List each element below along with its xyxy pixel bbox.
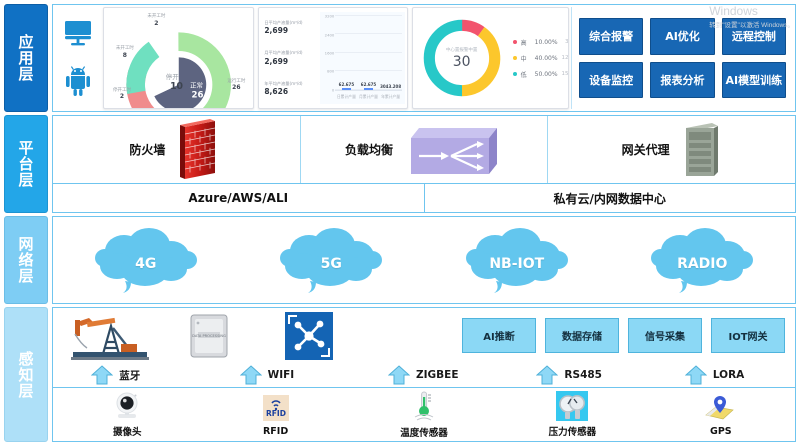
- kpi-value: 2,699: [264, 26, 318, 35]
- thermometer-icon: [409, 390, 439, 422]
- up-arrow-icon: [91, 365, 113, 385]
- donut1-seg-label: 正常: [190, 81, 203, 90]
- equipment-zigbee-node[interactable]: [259, 312, 359, 360]
- app-button-ai-optimization[interactable]: AI优化: [650, 18, 714, 55]
- chart-card-production-bar[interactable]: 日平均产液量(m³/d) 2,699 月平均产液量(m³/d) 2,699 年平…: [258, 7, 407, 109]
- edge-box-iot-gateway[interactable]: IOT网关: [711, 318, 785, 353]
- donut1-inner-value: 10: [170, 81, 183, 92]
- legend-count: 3: [565, 39, 569, 45]
- x-tick: 年累计产量: [381, 94, 400, 100]
- platform-layer: 平台层 防火墙: [4, 115, 796, 213]
- donut1-seg-value: 26: [192, 91, 204, 101]
- bar-item: 62.675: [364, 82, 373, 90]
- protocol-label: ZIGBEE: [416, 369, 460, 381]
- protocol-rs485: RS485: [498, 365, 646, 385]
- protocol-label: WIFI: [268, 369, 312, 381]
- edge-box-data-storage[interactable]: 数据存储: [545, 318, 619, 353]
- server-rack-icon: [682, 120, 722, 180]
- up-arrow-icon: [240, 365, 262, 385]
- sensor-label: 压力传感器: [549, 424, 597, 438]
- svg-text:DATA PROCESSING: DATA PROCESSING: [192, 334, 226, 338]
- platform-layer-body: 防火墙: [52, 115, 796, 213]
- load-balancer-icon: [405, 124, 503, 176]
- android-icon: [64, 64, 92, 96]
- bar-chart-x-axis: 日累计产量 月累计产量 年累计产量: [335, 90, 401, 103]
- bar-chart-plot: 0 800 1600 2400 3200 62.675: [320, 12, 404, 104]
- sensor-camera[interactable]: 摄像头: [53, 388, 201, 441]
- platform-infrastructure-row: Azure/AWS/ALI 私有云/内网数据中心: [53, 183, 795, 212]
- up-arrow-icon: [388, 365, 410, 385]
- donut1-callout-1: 未开工时 8: [110, 46, 140, 59]
- bar-value: 62.675: [339, 82, 354, 87]
- gps-pin-icon: [703, 393, 739, 423]
- perception-edge-services: AI推断 数据存储 信号采集 IOT网关: [359, 318, 789, 353]
- protocol-lora: LORA: [647, 365, 795, 385]
- y-tick: 800: [327, 69, 334, 74]
- kpi-item: 月平均产液量(m³/d) 2,699: [264, 50, 318, 65]
- application-action-buttons: 综合报警 AI优化 远程控制 设备监控 报表分析 AI模型训练: [571, 7, 793, 109]
- app-button-report-analysis[interactable]: 报表分析: [650, 62, 714, 99]
- platform-item-gateway-proxy[interactable]: 网关代理: [548, 116, 795, 183]
- app-button-comprehensive-alarm[interactable]: 综合报警: [579, 18, 643, 55]
- app-button-remote-control[interactable]: 远程控制: [722, 18, 786, 55]
- bar-chart-y-axis: 0 800 1600 2400 3200: [320, 14, 335, 90]
- legend-item: 低 50.00% 15: [513, 70, 569, 79]
- chart-card-alarm-donut[interactable]: 中心置报警中置 30 高 10.00% 3: [412, 7, 569, 109]
- perception-equipment-row: DATA PROCESSING: [53, 308, 795, 363]
- x-tick: 日累计产量: [337, 94, 356, 100]
- application-layer-body: 未开工时 2 未开工时 8 停开工时 2: [52, 4, 796, 112]
- sensor-label: 温度传感器: [400, 425, 448, 439]
- protocol-label: 蓝牙: [119, 368, 163, 383]
- sensor-label: GPS: [710, 426, 732, 437]
- donut2-center-caption: 中心置报警中置: [446, 47, 478, 53]
- y-tick: 3200: [325, 14, 335, 19]
- application-dashboard-charts: 未开工时 2 未开工时 8 停开工时 2: [103, 7, 569, 109]
- edge-box-signal-collect[interactable]: 信号采集: [628, 318, 702, 353]
- zigbee-node-icon: [285, 312, 333, 360]
- protocol-arrow-row: 蓝牙 WIFI ZIGBEE: [53, 363, 795, 387]
- legend-percent: 10.00%: [535, 39, 561, 46]
- protocol-bluetooth: 蓝牙: [53, 365, 201, 385]
- legend-label: 中: [521, 54, 531, 63]
- y-tick: 1600: [325, 50, 335, 55]
- donut1-callout-4: 运行工时 26: [222, 79, 250, 92]
- kpi-item: 年平均产液量(m³/d) 8,626: [264, 81, 318, 96]
- legend-item: 高 10.00% 3: [513, 38, 569, 47]
- chart-card-utilization-donut[interactable]: 未开工时 2 未开工时 8 停开工时 2: [103, 7, 254, 109]
- cloud-label: NB-IOT: [462, 256, 572, 272]
- cloud-label: 4G: [91, 256, 201, 272]
- svg-text:RFID: RFID: [266, 409, 286, 418]
- network-cloud-5g[interactable]: 5G: [276, 225, 386, 295]
- application-client-icons: [55, 7, 101, 109]
- iot-architecture-diagram: 应用层: [0, 0, 800, 444]
- platform-cloud-private[interactable]: 私有云/内网数据中心: [425, 184, 796, 212]
- perception-sensor-row: 摄像头 RFID RFID: [53, 387, 795, 441]
- protocol-label: LORA: [713, 369, 757, 381]
- platform-item-label: 负载均衡: [345, 141, 393, 158]
- edge-box-ai-inference[interactable]: AI推断: [462, 318, 536, 353]
- network-cloud-nbiot[interactable]: NB-IOT: [462, 225, 572, 295]
- perception-layer-body: DATA PROCESSING: [52, 307, 796, 442]
- y-tick: 0: [332, 88, 334, 93]
- equipment-pumpjack[interactable]: [59, 312, 159, 360]
- protocol-wifi: WIFI: [201, 365, 349, 385]
- x-tick: 月累计产量: [359, 94, 378, 100]
- gateway-box-icon: DATA PROCESSING: [182, 312, 236, 360]
- platform-item-label: 防火墙: [129, 141, 165, 158]
- legend-label: 高: [521, 38, 531, 47]
- sensor-rfid[interactable]: RFID RFID: [201, 388, 349, 441]
- perception-layer: 感知层: [4, 307, 796, 442]
- legend-count: 15: [562, 71, 569, 77]
- donut1-callout-0: 未开工时 2: [141, 14, 171, 27]
- equipment-data-cabinet[interactable]: DATA PROCESSING: [159, 312, 259, 360]
- kpi-label: 月平均产液量(m³/d): [264, 50, 318, 55]
- donut2-center-value: 30: [453, 54, 471, 70]
- platform-cloud-public[interactable]: Azure/AWS/ALI: [53, 184, 425, 212]
- protocol-zigbee: ZIGBEE: [350, 365, 498, 385]
- sensor-gps[interactable]: GPS: [647, 388, 795, 441]
- layer-tab-application[interactable]: 应用层: [4, 4, 48, 112]
- up-arrow-icon: [685, 365, 707, 385]
- donut2-wrap: 中心置报警中置 30: [419, 15, 505, 101]
- monitor-icon: [63, 20, 93, 46]
- legend-label: 低: [521, 70, 531, 79]
- pressure-gauge-icon: [556, 391, 588, 421]
- kpi-label: 年平均产液量(m³/d): [264, 81, 318, 86]
- application-layer: 应用层: [4, 4, 796, 112]
- donut2-legend: 高 10.00% 3 中 40.00% 12: [505, 38, 569, 79]
- app-button-device-monitoring[interactable]: 设备监控: [579, 62, 643, 99]
- bar-series: 62.675 62.675 3043.208: [335, 15, 401, 90]
- network-cloud-radio[interactable]: RADIO: [647, 225, 757, 295]
- sensor-label: 摄像头: [113, 424, 142, 438]
- kpi-list: 日平均产液量(m³/d) 2,699 月平均产液量(m³/d) 2,699 年平…: [261, 12, 318, 104]
- y-tick: 2400: [325, 32, 335, 37]
- legend-percent: 50.00%: [535, 71, 558, 78]
- app-button-ai-model-training[interactable]: AI模型训练: [722, 62, 786, 99]
- kpi-value: 2,699: [264, 57, 318, 66]
- camera-icon: [112, 391, 142, 421]
- legend-count: 12: [562, 55, 569, 61]
- protocol-label: RS485: [564, 369, 608, 381]
- kpi-value: 8,626: [264, 87, 318, 96]
- bar-value: 62.675: [361, 82, 376, 87]
- kpi-label: 日平均产液量(m³/d): [264, 20, 318, 25]
- donut1-inner-label: 停开: [166, 72, 179, 81]
- sensor-pressure[interactable]: 压力传感器: [498, 388, 646, 441]
- platform-item-load-balancer[interactable]: 负载均衡: [301, 116, 549, 183]
- network-cloud-4g[interactable]: 4G: [91, 225, 201, 295]
- cloud-label: 5G: [276, 256, 386, 272]
- kpi-item: 日平均产液量(m³/d) 2,699: [264, 20, 318, 35]
- rfid-icon: RFID: [261, 393, 291, 423]
- layer-tab-platform[interactable]: 平台层: [4, 115, 48, 213]
- platform-item-firewall[interactable]: 防火墙: [53, 116, 301, 183]
- firewall-icon: [177, 119, 223, 181]
- sensor-temperature[interactable]: 温度传感器: [350, 388, 498, 441]
- up-arrow-icon: [536, 365, 558, 385]
- network-layer: 网络层 4G: [4, 216, 796, 304]
- bar-value: 3043.208: [380, 84, 401, 89]
- layer-tab-network[interactable]: 网络层: [4, 216, 48, 304]
- network-layer-body: 4G 5G: [52, 216, 796, 304]
- layer-tab-perception[interactable]: 感知层: [4, 307, 48, 442]
- donut1-callout-2: 停开工时 2: [107, 88, 137, 101]
- cloud-label: RADIO: [647, 256, 757, 272]
- bar-item: 62.675: [342, 82, 351, 90]
- legend-percent: 40.00%: [535, 55, 558, 62]
- legend-item: 中 40.00% 12: [513, 54, 569, 63]
- sensor-label: RFID: [263, 426, 288, 437]
- pumpjack-icon: [63, 312, 155, 360]
- platform-item-label: 网关代理: [622, 141, 670, 158]
